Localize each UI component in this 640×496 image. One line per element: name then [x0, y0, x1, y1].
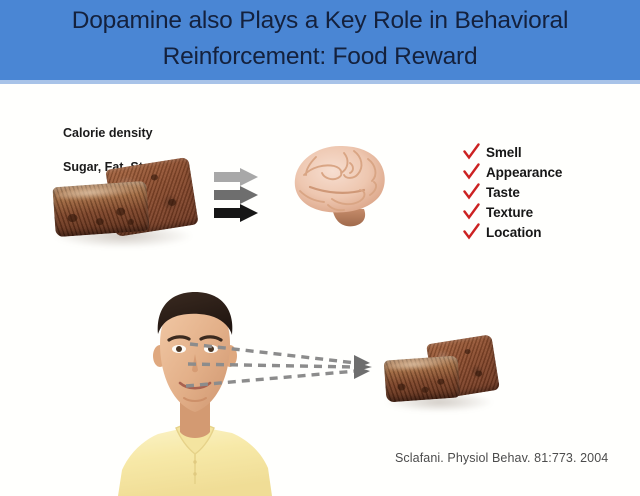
brownie-piece-front [52, 181, 149, 237]
brownie-chunk [397, 384, 405, 392]
block-arrow-mid-icon [214, 186, 258, 204]
checklist-item-smell[interactable]: Smell [463, 142, 623, 162]
brownie-crust [387, 357, 451, 372]
pupil-left [176, 346, 182, 352]
brownie-chunk [116, 207, 126, 216]
gaze-dashed-line-middle [188, 364, 356, 367]
brownie-chunk [128, 219, 134, 225]
check-icon [463, 203, 480, 221]
slide-title-line-1: Dopamine also Plays a Key Role in Behavi… [0, 3, 640, 39]
block-arrow-light-icon [214, 168, 258, 186]
checklist-item-texture[interactable]: Texture [463, 202, 623, 222]
brownie-chunk [67, 214, 78, 223]
brownie-chunk [168, 199, 177, 207]
checklist-item-label: Taste [486, 185, 520, 200]
slide-title-line-2: Reinforcement: Food Reward [0, 39, 640, 75]
checklist-item-taste[interactable]: Taste [463, 182, 623, 202]
checklist-item-label: Texture [486, 205, 533, 220]
checklist-item-appearance[interactable]: Appearance [463, 162, 623, 182]
citation-text: Sclafani. Physiol Behav. 81:773. 2004 [395, 451, 608, 465]
gaze-dashed-line-bottom [186, 371, 356, 386]
brownie-chunk [150, 174, 158, 181]
attribute-checklist: Smell Appearance Taste Texture Location [463, 142, 623, 242]
brownie-photo-bottom [380, 336, 498, 414]
title-band-underline [0, 80, 640, 84]
brain-photo [288, 133, 392, 237]
shirt-button [193, 460, 196, 463]
gaze-arrow-group [186, 336, 386, 398]
shirt-button [193, 472, 196, 475]
brownie-chunk [474, 370, 482, 377]
brownie-chunk [96, 218, 104, 226]
slide-canvas: Dopamine also Plays a Key Role in Behavi… [0, 0, 640, 496]
checklist-item-location[interactable]: Location [463, 222, 623, 242]
check-icon [463, 223, 480, 241]
brownie-chunk [421, 387, 428, 393]
brownie-crust [56, 183, 138, 202]
brownie-photo-top [48, 158, 198, 250]
checklist-item-label: Location [486, 225, 541, 240]
checklist-item-label: Smell [486, 145, 522, 160]
block-arrow-dark-icon [214, 204, 258, 222]
brownie-piece-front [384, 355, 461, 402]
block-arrow-group [214, 168, 268, 222]
calorie-density-line-1: Calorie density [63, 125, 169, 142]
slide-title: Dopamine also Plays a Key Role in Behavi… [0, 3, 640, 75]
checklist-item-label: Appearance [486, 165, 562, 180]
check-icon [463, 183, 480, 201]
check-icon [463, 163, 480, 181]
gaze-dashed-line-top [190, 344, 356, 363]
check-icon [463, 143, 480, 161]
brownie-chunk [437, 378, 444, 384]
brownie-chunk [464, 349, 471, 355]
